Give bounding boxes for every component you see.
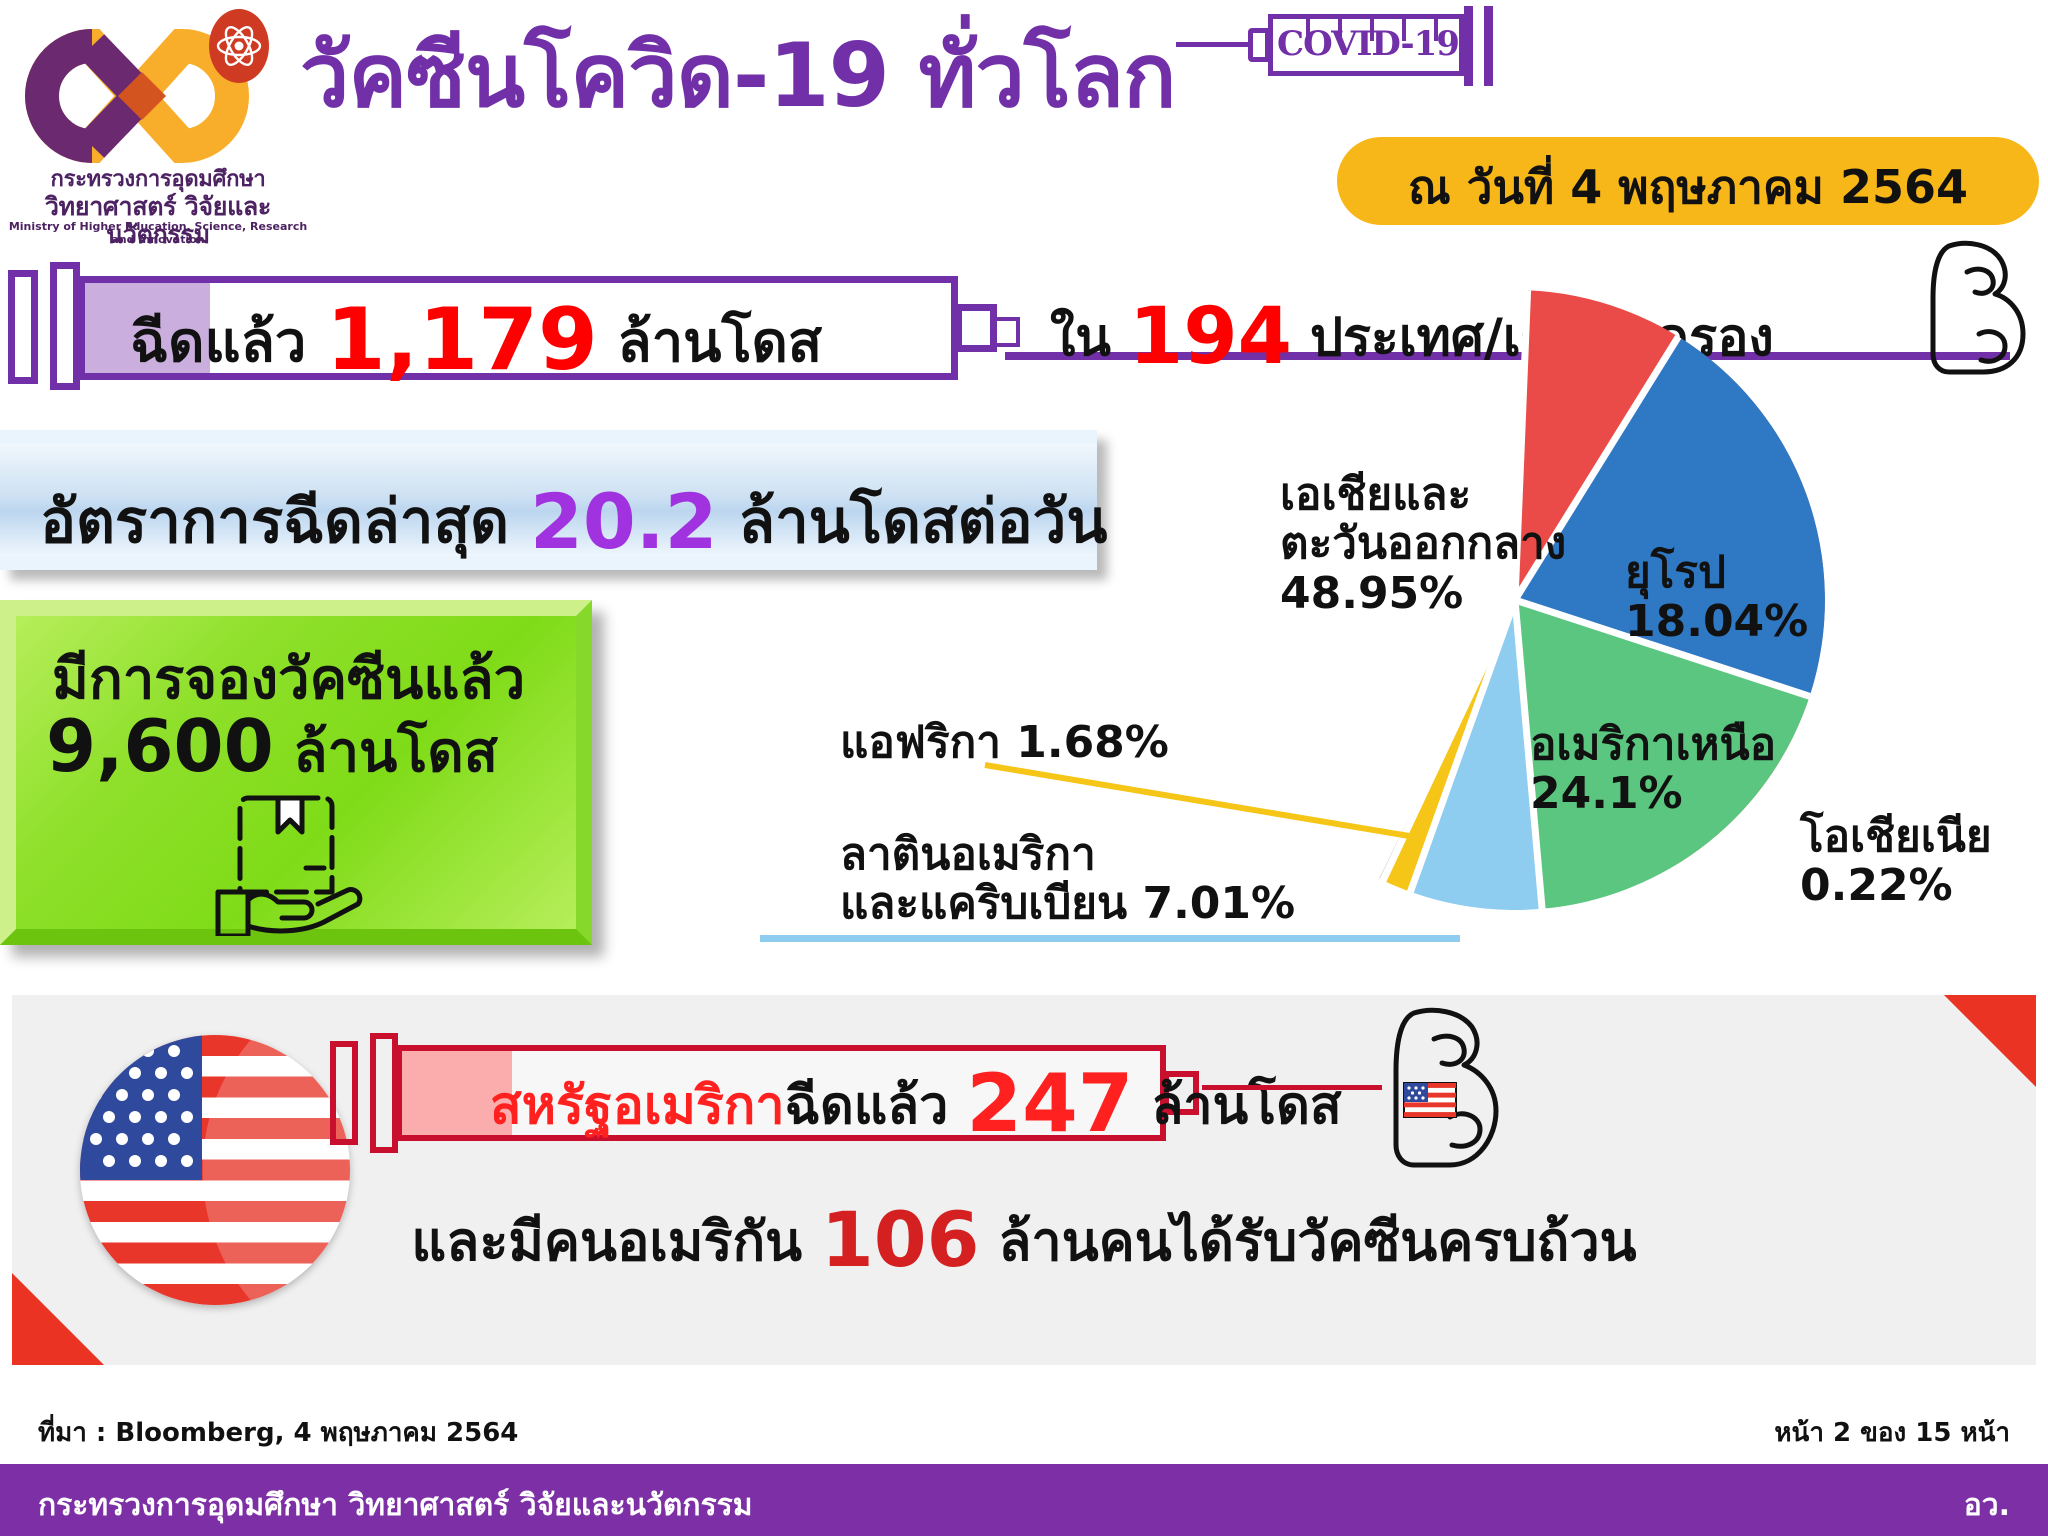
- syringe-plunger-inner: [50, 262, 80, 390]
- footer-bar: กระทรวงการอุดมศึกษา วิทยาศาสตร์ วิจัยและ…: [0, 1464, 2048, 1536]
- usa-panel: สหรัฐอเมริกาฉีดแล้ว 247 ล้านโดส แล: [12, 995, 2036, 1365]
- syringe-plunger-outer: [330, 1041, 358, 1145]
- syringe-hub: [1248, 28, 1270, 62]
- usa-doses-syringe: สหรัฐอเมริกาฉีดแล้ว 247 ล้านโดส: [322, 1033, 1212, 1153]
- countries-prefix: ใน: [1050, 308, 1111, 368]
- leader-line-latin-america: [760, 935, 1460, 942]
- booked-value: 9,600: [46, 704, 274, 788]
- doses-suffix: ล้านโดส: [617, 310, 822, 375]
- syringe-tip: [990, 317, 1020, 347]
- pie-label-asia-line1: เอเชียและ: [1280, 470, 1566, 519]
- flexed-bicep-icon: [1905, 238, 2045, 378]
- usa-fully-value: 106: [821, 1195, 980, 1284]
- booked-doses-box: มีการจองวัคซีนแล้ว 9,600 ล้านโดส: [0, 600, 592, 945]
- usa-doses-text: สหรัฐอเมริกาฉีดแล้ว 247 ล้านโดส: [490, 1057, 1342, 1150]
- doses-prefix: ฉีดแล้ว: [130, 310, 306, 375]
- syringe-plunger-inner: [370, 1033, 398, 1153]
- date-badge: ณ วันที่ 4 พฤษภาคม 2564: [1337, 137, 2039, 225]
- rate-suffix: ล้านโดสต่อวัน: [738, 487, 1107, 557]
- pie-label-europe-name: ยุโรป: [1625, 548, 1808, 597]
- pie-label-latin-america-line2: และแคริบเบียน 7.01%: [840, 879, 1295, 928]
- usa-fully-suffix: ล้านคนได้รับวัคซีนครบถ้วน: [998, 1210, 1636, 1273]
- page-title: วัคซีนโควิด-19 ทั่วโลก: [300, 32, 1175, 120]
- pie-label-latin-america-line1: ลาตินอเมริกา: [840, 830, 1295, 879]
- daily-rate-text: อัตราการฉีดล่าสุด 20.2 ล้านโดสต่อวัน: [40, 474, 1107, 569]
- usa-label: สหรัฐอเมริกา: [490, 1076, 785, 1136]
- hand-holding-package-icon: [206, 786, 366, 936]
- syringe-plunger: [1484, 6, 1493, 86]
- usa-doses-prefix: ฉีดแล้ว: [785, 1076, 949, 1136]
- global-doses-text: ฉีดแล้ว 1,179 ล้านโดส: [130, 290, 930, 390]
- usa-fully-prefix: และมีคนอเมริกัน: [411, 1210, 802, 1273]
- rate-prefix: อัตราการฉีดล่าสุด: [40, 487, 509, 557]
- syringe-needle: [1176, 42, 1252, 47]
- ministry-name-en: Ministry of Higher Education, Science, R…: [8, 220, 308, 246]
- flexed-bicep-flag-icon: [1362, 1005, 1542, 1175]
- footer-ministry-name: กระทรวงการอุดมศึกษา วิทยาศาสตร์ วิจัยและ…: [38, 1482, 753, 1529]
- pie-label-asia-value: 48.95%: [1280, 569, 1566, 618]
- covid-syringe-badge: COVID-19: [1228, 6, 1528, 86]
- pie-label-north-america: อเมริกาเหนือ 24.1%: [1530, 720, 1776, 819]
- pie-label-africa: แอฟริกา 1.68%: [840, 718, 1169, 767]
- usa-fully-vaccinated-text: และมีคนอเมริกัน 106 ล้านคนได้รับวัคซีนคร…: [12, 1195, 2036, 1284]
- source-text: ที่มา : Bloomberg, 4 พฤษภาคม 2564: [38, 1412, 518, 1453]
- doses-value: 1,179: [326, 290, 598, 390]
- syringe-plunger-outer: [8, 270, 38, 384]
- corner-accent-top-right: [1944, 995, 2036, 1087]
- atom-icon: [208, 8, 270, 84]
- pie-label-asia: เอเชียและ ตะวันออกกลาง 48.95%: [1280, 470, 1566, 618]
- pie-label-oceania: โอเชียเนีย 0.22%: [1800, 812, 1992, 911]
- global-doses-syringe: ฉีดแล้ว 1,179 ล้านโดส: [0, 262, 1010, 392]
- ministry-name-line1: กระทรวงการอุดมศึกษา: [8, 168, 308, 193]
- pie-label-oceania-value: 0.22%: [1800, 861, 1992, 910]
- pie-label-north-america-name: อเมริกาเหนือ: [1530, 720, 1776, 769]
- pie-label-north-america-value: 24.1%: [1530, 769, 1776, 818]
- pie-label-latin-america: ลาตินอเมริกา และแคริบเบียน 7.01%: [840, 830, 1295, 929]
- corner-accent-bottom-left: [12, 1273, 104, 1365]
- page-number: หน้า 2 ของ 15 หน้า: [1774, 1412, 2010, 1453]
- covid-badge-label: COVID-19: [1274, 24, 1462, 64]
- booked-value-row: 9,600 ล้านโดส: [46, 704, 498, 796]
- usa-doses-value: 247: [966, 1057, 1133, 1150]
- footer-abbreviation: อว.: [1964, 1482, 2010, 1529]
- date-label: ณ วันที่ 4 พฤษภาคม 2564: [1337, 151, 2039, 224]
- booked-suffix: ล้านโดส: [293, 720, 498, 785]
- pie-label-europe-value: 18.04%: [1625, 597, 1808, 646]
- syringe-plunger: [1464, 6, 1473, 86]
- pie-label-oceania-name: โอเชียเนีย: [1800, 812, 1992, 861]
- ministry-logo: กระทรวงการอุดมศึกษา วิทยาศาสตร์ วิจัยและ…: [8, 8, 308, 218]
- rate-value: 20.2: [530, 477, 718, 566]
- connector-line-red: [1202, 1085, 1382, 1090]
- daily-rate-box: อัตราการฉีดล่าสุด 20.2 ล้านโดสต่อวัน: [0, 430, 1097, 570]
- pie-label-asia-line2: ตะวันออกกลาง: [1280, 519, 1566, 568]
- pie-label-europe: ยุโรป 18.04%: [1625, 548, 1808, 647]
